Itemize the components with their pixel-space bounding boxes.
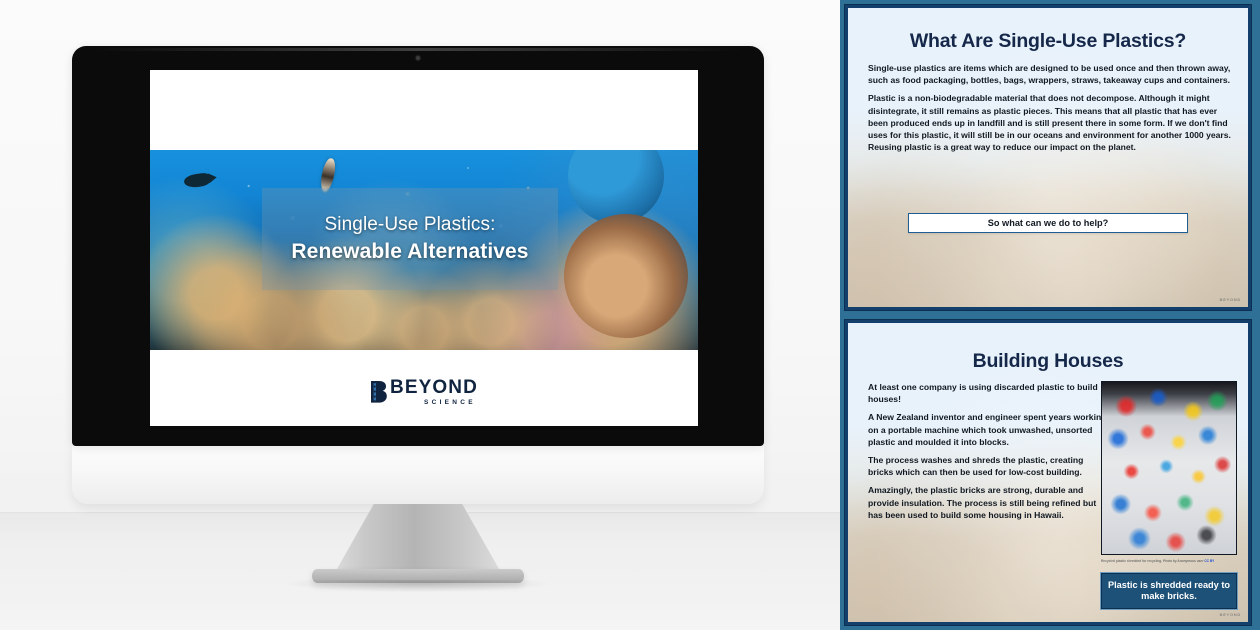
b-lobe-top bbox=[568, 150, 664, 224]
shredded-plastic-photo bbox=[1101, 381, 1237, 555]
stand-shadow bbox=[288, 580, 548, 592]
slide-2-paragraph: A New Zealand inventor and engineer spen… bbox=[868, 411, 1108, 448]
brand-b-photo-mask bbox=[548, 150, 698, 350]
brand-wordmark: BEYOND SCIENCE bbox=[390, 378, 478, 407]
slide-1-watermark: BEYOND bbox=[1220, 297, 1241, 302]
slides-pane: What Are Single-Use Plastics? Single-use… bbox=[840, 0, 1260, 630]
beyond-science-logo: BEYOND SCIENCE bbox=[150, 378, 698, 407]
slide-2-paragraph: Amazingly, the plastic bricks are strong… bbox=[868, 484, 1108, 521]
b-lobe-bottom bbox=[564, 214, 688, 338]
monitor-display[interactable]: Single-Use Plastics: Renewable Alternati… bbox=[150, 70, 698, 426]
slide-1-body: Single-use plastics are items which are … bbox=[868, 62, 1234, 153]
webcam-icon bbox=[416, 56, 420, 60]
slide-2-title: Building Houses bbox=[848, 350, 1248, 373]
device-photo-pane: Single-Use Plastics: Renewable Alternati… bbox=[0, 0, 840, 630]
brand-b-icon bbox=[370, 380, 387, 404]
brand-name: BEYOND bbox=[390, 378, 478, 397]
screenshot-root: Single-Use Plastics: Renewable Alternati… bbox=[0, 0, 1260, 630]
photo-caption-box: Plastic is shredded ready to make bricks… bbox=[1101, 573, 1237, 609]
slide-what-are-single-use-plastics[interactable]: What Are Single-Use Plastics? Single-use… bbox=[840, 0, 1260, 315]
title-line-1: Single-Use Plastics: bbox=[325, 214, 496, 236]
slide-2-paragraph: The process washes and shreds the plasti… bbox=[868, 454, 1108, 478]
slide-building-houses[interactable]: Building Houses At least one company is … bbox=[840, 315, 1260, 630]
slide-2-paragraph: At least one company is using discarded … bbox=[868, 381, 1108, 405]
slide-2-canvas: Building Houses At least one company is … bbox=[845, 320, 1251, 625]
photo-credit-line: Recycled plastic shredded for recycling.… bbox=[1101, 559, 1237, 565]
photo-credit-text: Recycled plastic shredded for recycling.… bbox=[1101, 559, 1203, 563]
photo-credit-link[interactable]: CC BY bbox=[1204, 559, 1214, 563]
monitor-bezel: Single-Use Plastics: Renewable Alternati… bbox=[72, 46, 764, 446]
slide-1-title: What Are Single-Use Plastics? bbox=[848, 30, 1248, 53]
slide-1-paragraph: Plastic is a non-biodegradable material … bbox=[868, 92, 1234, 153]
slide-2-watermark: BEYOND bbox=[1220, 612, 1241, 617]
title-line-2: Renewable Alternatives bbox=[291, 240, 528, 264]
title-slide-heading: Single-Use Plastics: Renewable Alternati… bbox=[262, 188, 558, 290]
brand-subtitle: SCIENCE bbox=[424, 400, 478, 407]
slide-1-paragraph: Single-use plastics are items which are … bbox=[868, 62, 1234, 86]
so-what-can-we-do-to-help-button[interactable]: So what can we do to help? bbox=[908, 213, 1188, 233]
slide-1-canvas: What Are Single-Use Plastics? Single-use… bbox=[845, 5, 1251, 310]
monitor-chin bbox=[72, 446, 764, 504]
all-in-one-computer: Single-Use Plastics: Renewable Alternati… bbox=[72, 46, 764, 504]
slide-2-body: At least one company is using discarded … bbox=[868, 381, 1108, 521]
